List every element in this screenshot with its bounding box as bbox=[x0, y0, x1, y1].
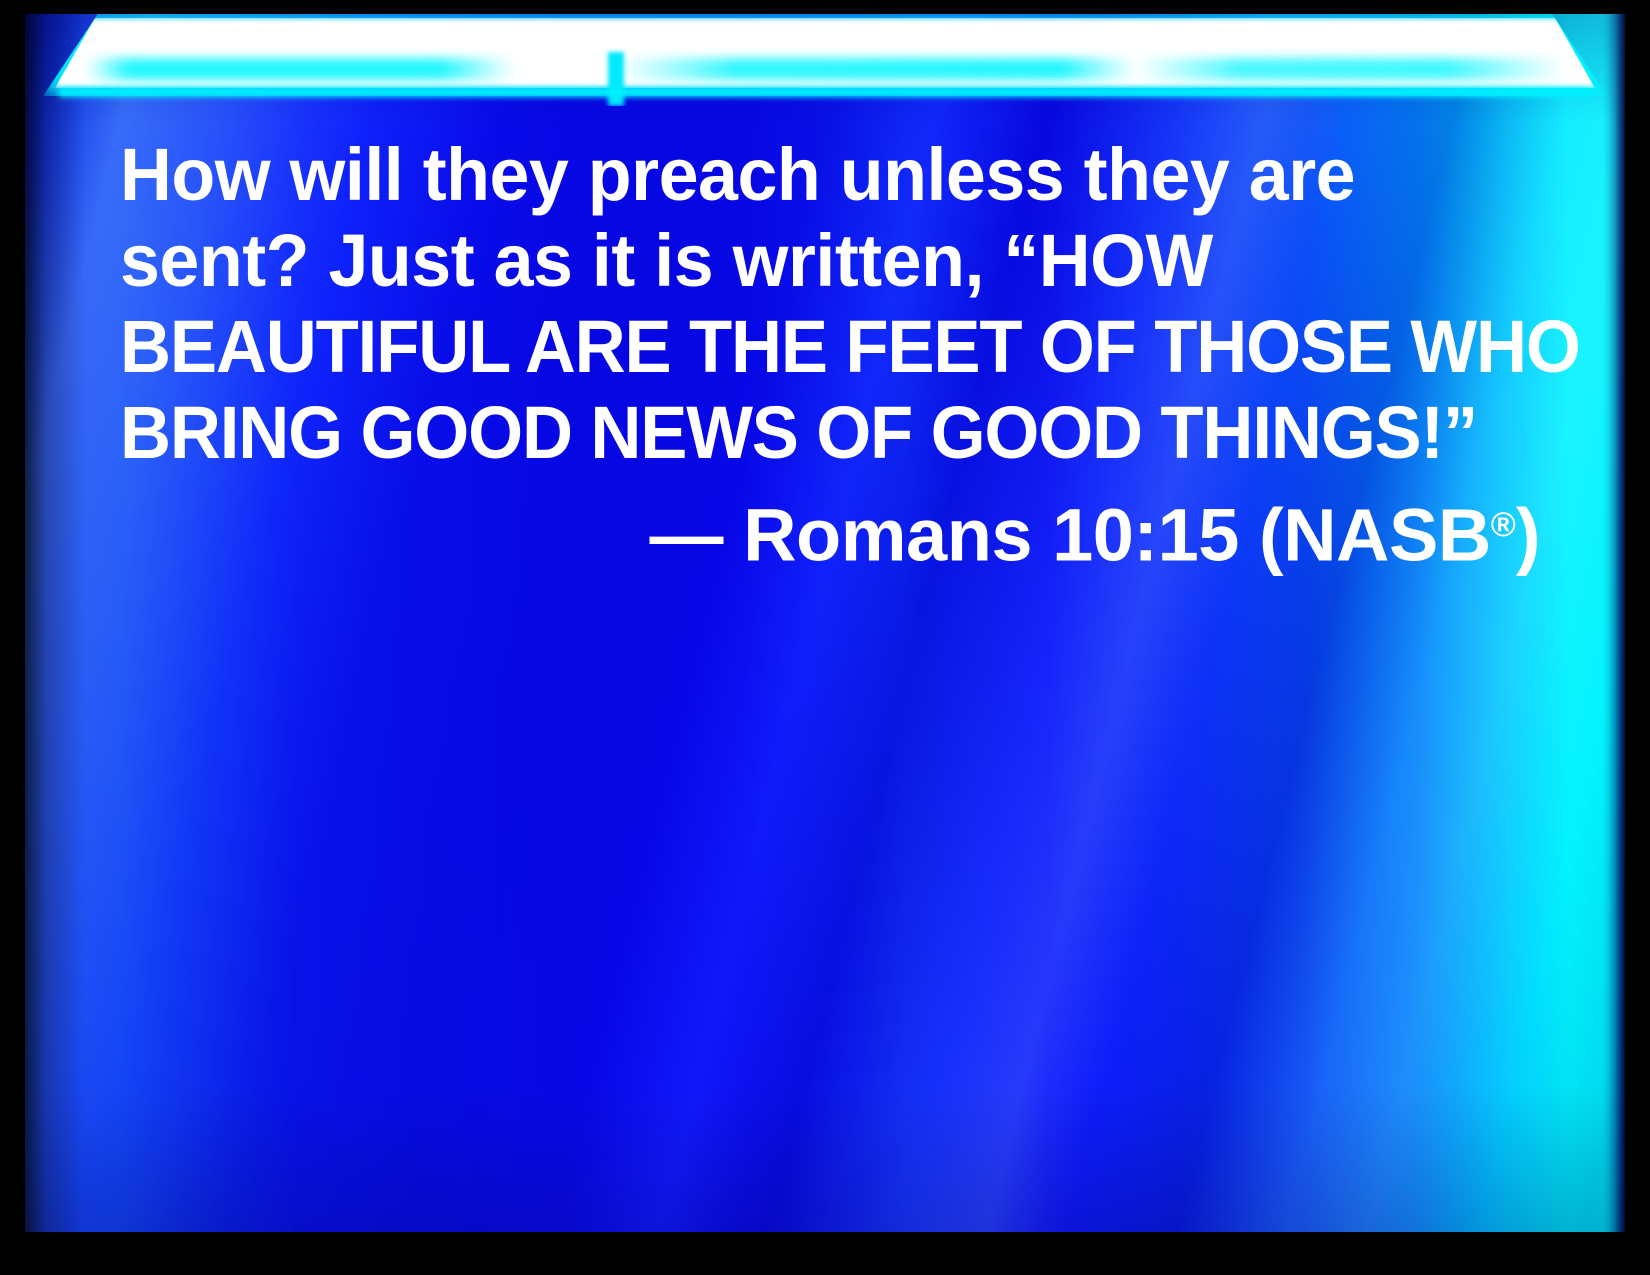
attribution-prefix: — Romans 10:15 (NASB bbox=[650, 494, 1491, 577]
registered-trademark-icon: ® bbox=[1491, 506, 1516, 544]
verse-line-1: How will they preach unless they are bbox=[120, 132, 1497, 218]
verse-line-4: BRING GOOD NEWS OF GOOD THINGS!” bbox=[120, 390, 1476, 476]
verse-line-2: sent? Just as it is written, “HOW bbox=[120, 218, 1497, 304]
top-band-cyan-notch bbox=[608, 52, 624, 106]
verse-attribution: — Romans 10:15 (NASB®) bbox=[120, 482, 1540, 579]
background-right-vignette bbox=[1603, 14, 1625, 1232]
top-band-cyan-baseline bbox=[59, 88, 1591, 97]
top-band-inner-cyan-streak bbox=[85, 58, 1565, 80]
gradient-background: How will they preach unless they are sen… bbox=[25, 14, 1625, 1232]
background-left-vignette bbox=[25, 14, 85, 1232]
verse-text-block: How will they preach unless they are sen… bbox=[120, 132, 1540, 579]
verse-line-3: BEAUTIFUL ARE THE FEET OF THOSE WHO bbox=[120, 304, 1476, 390]
top-highlight-band bbox=[25, 14, 1625, 106]
scripture-slide: How will they preach unless they are sen… bbox=[0, 0, 1650, 1275]
attribution-suffix: ) bbox=[1516, 494, 1540, 577]
